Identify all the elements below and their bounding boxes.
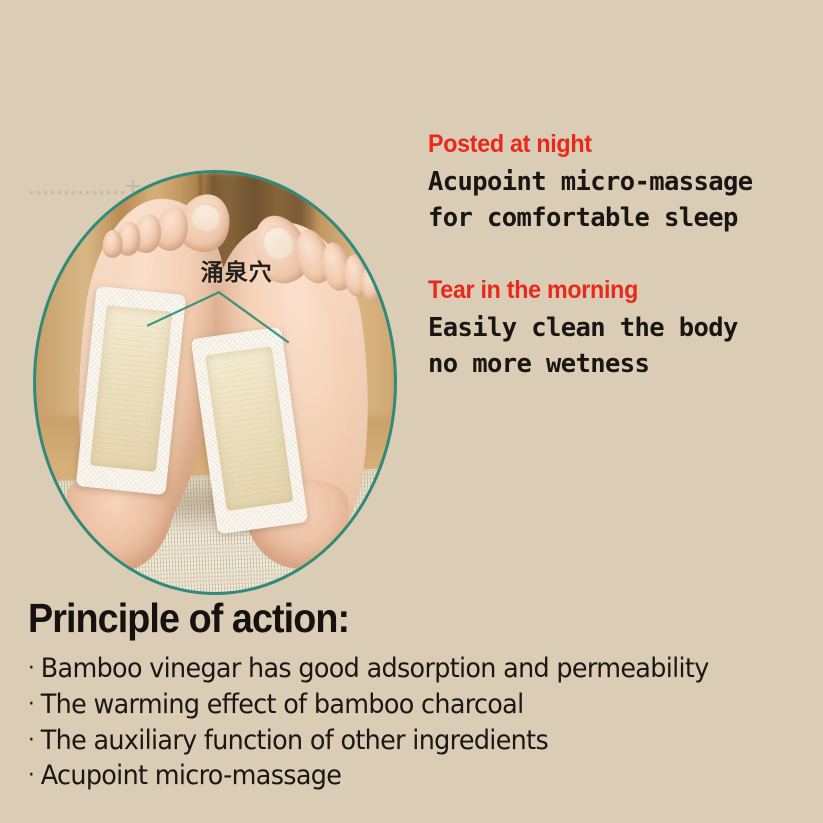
watermark-cross-icon bbox=[126, 180, 140, 194]
watermark-text bbox=[30, 191, 126, 194]
patch-pad bbox=[205, 346, 294, 511]
list-item: · The auxiliary function of other ingred… bbox=[28, 723, 767, 759]
bullet-icon: · bbox=[28, 694, 34, 716]
benefit-line: Easily clean the body bbox=[428, 310, 813, 346]
list-item: · Acupoint micro-massage bbox=[28, 758, 767, 794]
list-item-label: The warming effect of bamboo charcoal bbox=[41, 687, 524, 723]
benefit-line: Acupoint micro-massage bbox=[428, 164, 813, 200]
list-item-label: Acupoint micro-massage bbox=[41, 758, 341, 794]
bullet-icon: · bbox=[28, 658, 34, 680]
copy-column: Posted at night Acupoint micro-massage f… bbox=[428, 131, 813, 382]
bullet-icon: · bbox=[28, 765, 34, 787]
patch-pad bbox=[90, 305, 173, 472]
list-item: · The warming effect of bamboo charcoal bbox=[28, 687, 767, 723]
principle-bullet-list: · Bamboo vinegar has good adsorption and… bbox=[28, 651, 798, 794]
acupoint-label: 涌泉穴 bbox=[201, 253, 273, 287]
list-item-label: Bamboo vinegar has good adsorption and p… bbox=[41, 651, 709, 687]
benefit-block-night: Posted at night Acupoint micro-massage f… bbox=[428, 131, 813, 237]
toe bbox=[360, 265, 383, 302]
principle-title: Principle of action: bbox=[28, 598, 736, 639]
kicker-tear-in-the-morning: Tear in the morning bbox=[428, 277, 786, 303]
list-item: · Bamboo vinegar has good adsorption and… bbox=[28, 651, 767, 687]
photo-inner: 涌泉穴 bbox=[36, 173, 394, 592]
watermark bbox=[26, 178, 146, 204]
product-photo-circle: 涌泉穴 bbox=[33, 170, 397, 595]
principle-of-action-section: Principle of action: · Bamboo vinegar ha… bbox=[28, 598, 798, 794]
benefit-line: for comfortable sleep bbox=[428, 200, 813, 236]
infographic-canvas: 涌泉穴 Posted at night Acupoint micro-massa… bbox=[0, 0, 823, 823]
benefit-block-morning: Tear in the morning Easily clean the bod… bbox=[428, 277, 813, 383]
bullet-icon: · bbox=[28, 730, 34, 752]
list-item-label: The auxiliary function of other ingredie… bbox=[41, 723, 548, 759]
kicker-posted-at-night: Posted at night bbox=[428, 131, 786, 157]
benefit-line: no more wetness bbox=[428, 346, 813, 382]
